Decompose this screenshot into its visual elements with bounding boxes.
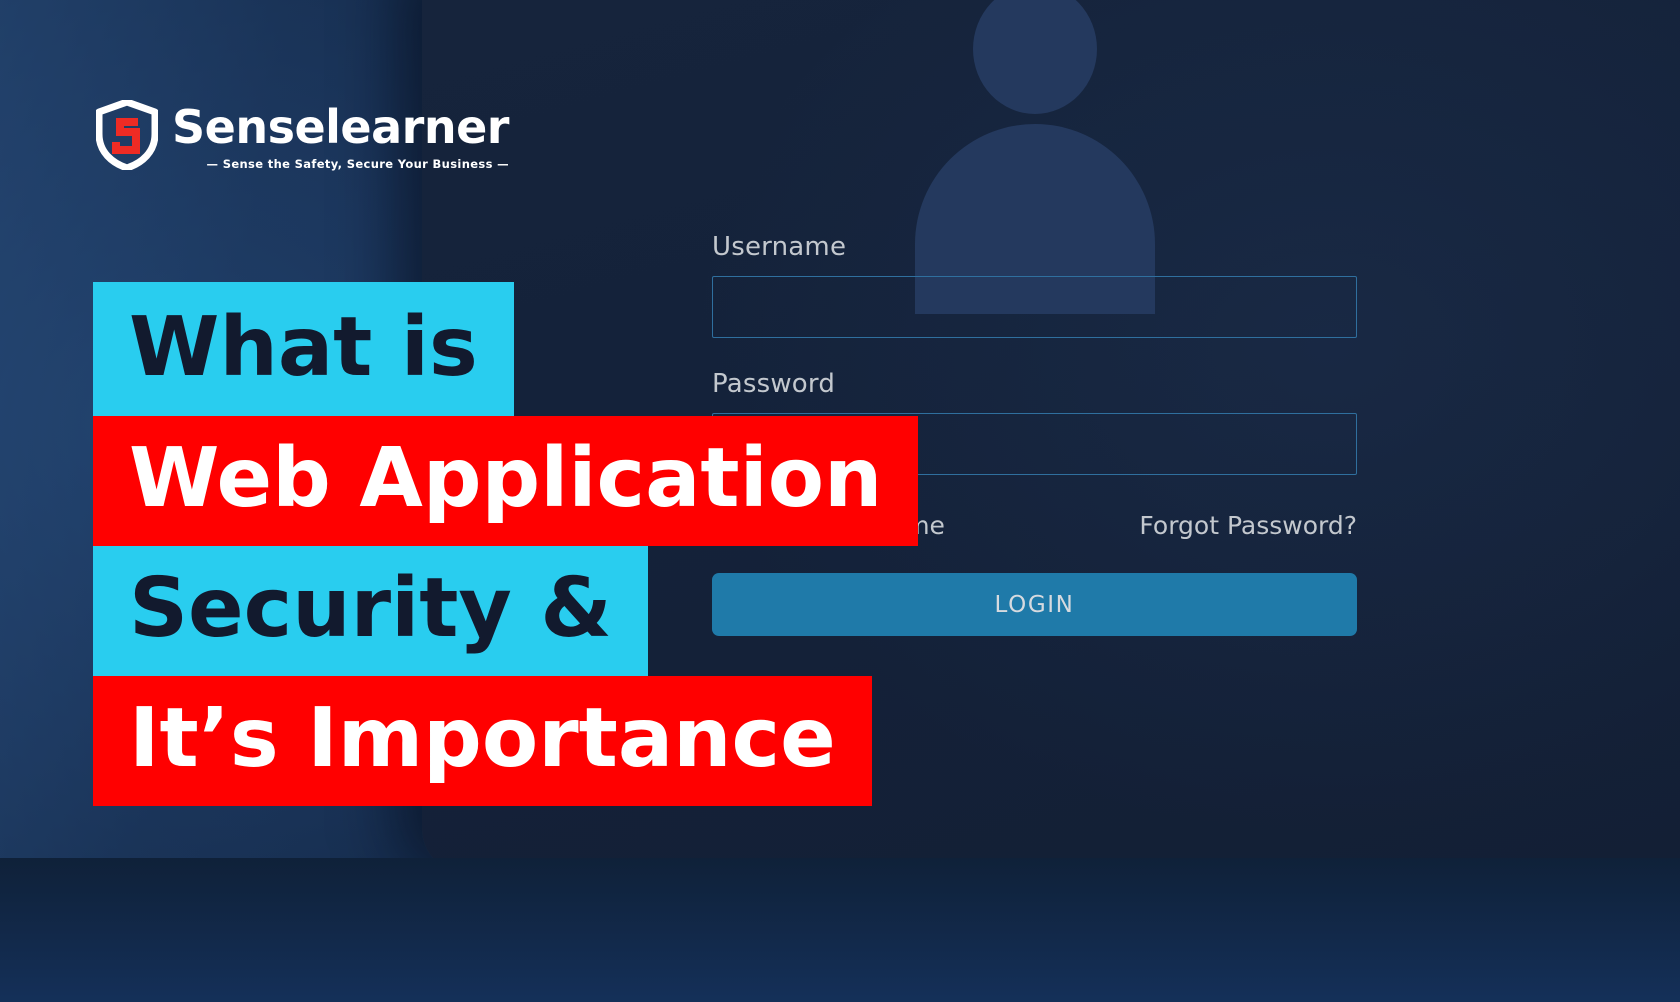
username-label: Username	[712, 232, 1357, 262]
background-bottom-band	[0, 858, 1680, 1002]
headline-line-4: It’s Importance	[93, 676, 872, 806]
avatar-head	[973, 0, 1097, 114]
brand-text-block: Senselearner — Sense the Safety, Secure …	[172, 104, 509, 171]
brand-logo: Senselearner — Sense the Safety, Secure …	[96, 100, 509, 174]
headline-row: It’s Importance	[93, 676, 918, 806]
forgot-password-link[interactable]: Forgot Password?	[1139, 511, 1357, 540]
headline-row: What is	[93, 282, 918, 416]
headline-row: Web Application	[93, 416, 918, 546]
headline-line-3: Security &	[93, 546, 648, 676]
headline-group: What is Web Application Security & It’s …	[93, 282, 918, 806]
brand-tagline: — Sense the Safety, Secure Your Business…	[207, 157, 509, 171]
headline-line-2: Web Application	[93, 416, 918, 546]
shield-s-icon	[96, 100, 158, 174]
headline-line-1: What is	[93, 282, 514, 416]
brand-name: Senselearner	[172, 104, 509, 150]
user-avatar-icon	[915, 0, 1155, 220]
slide-canvas: Username Password Remember me Forgot Pas…	[0, 0, 1680, 1002]
headline-row: Security &	[93, 546, 918, 676]
